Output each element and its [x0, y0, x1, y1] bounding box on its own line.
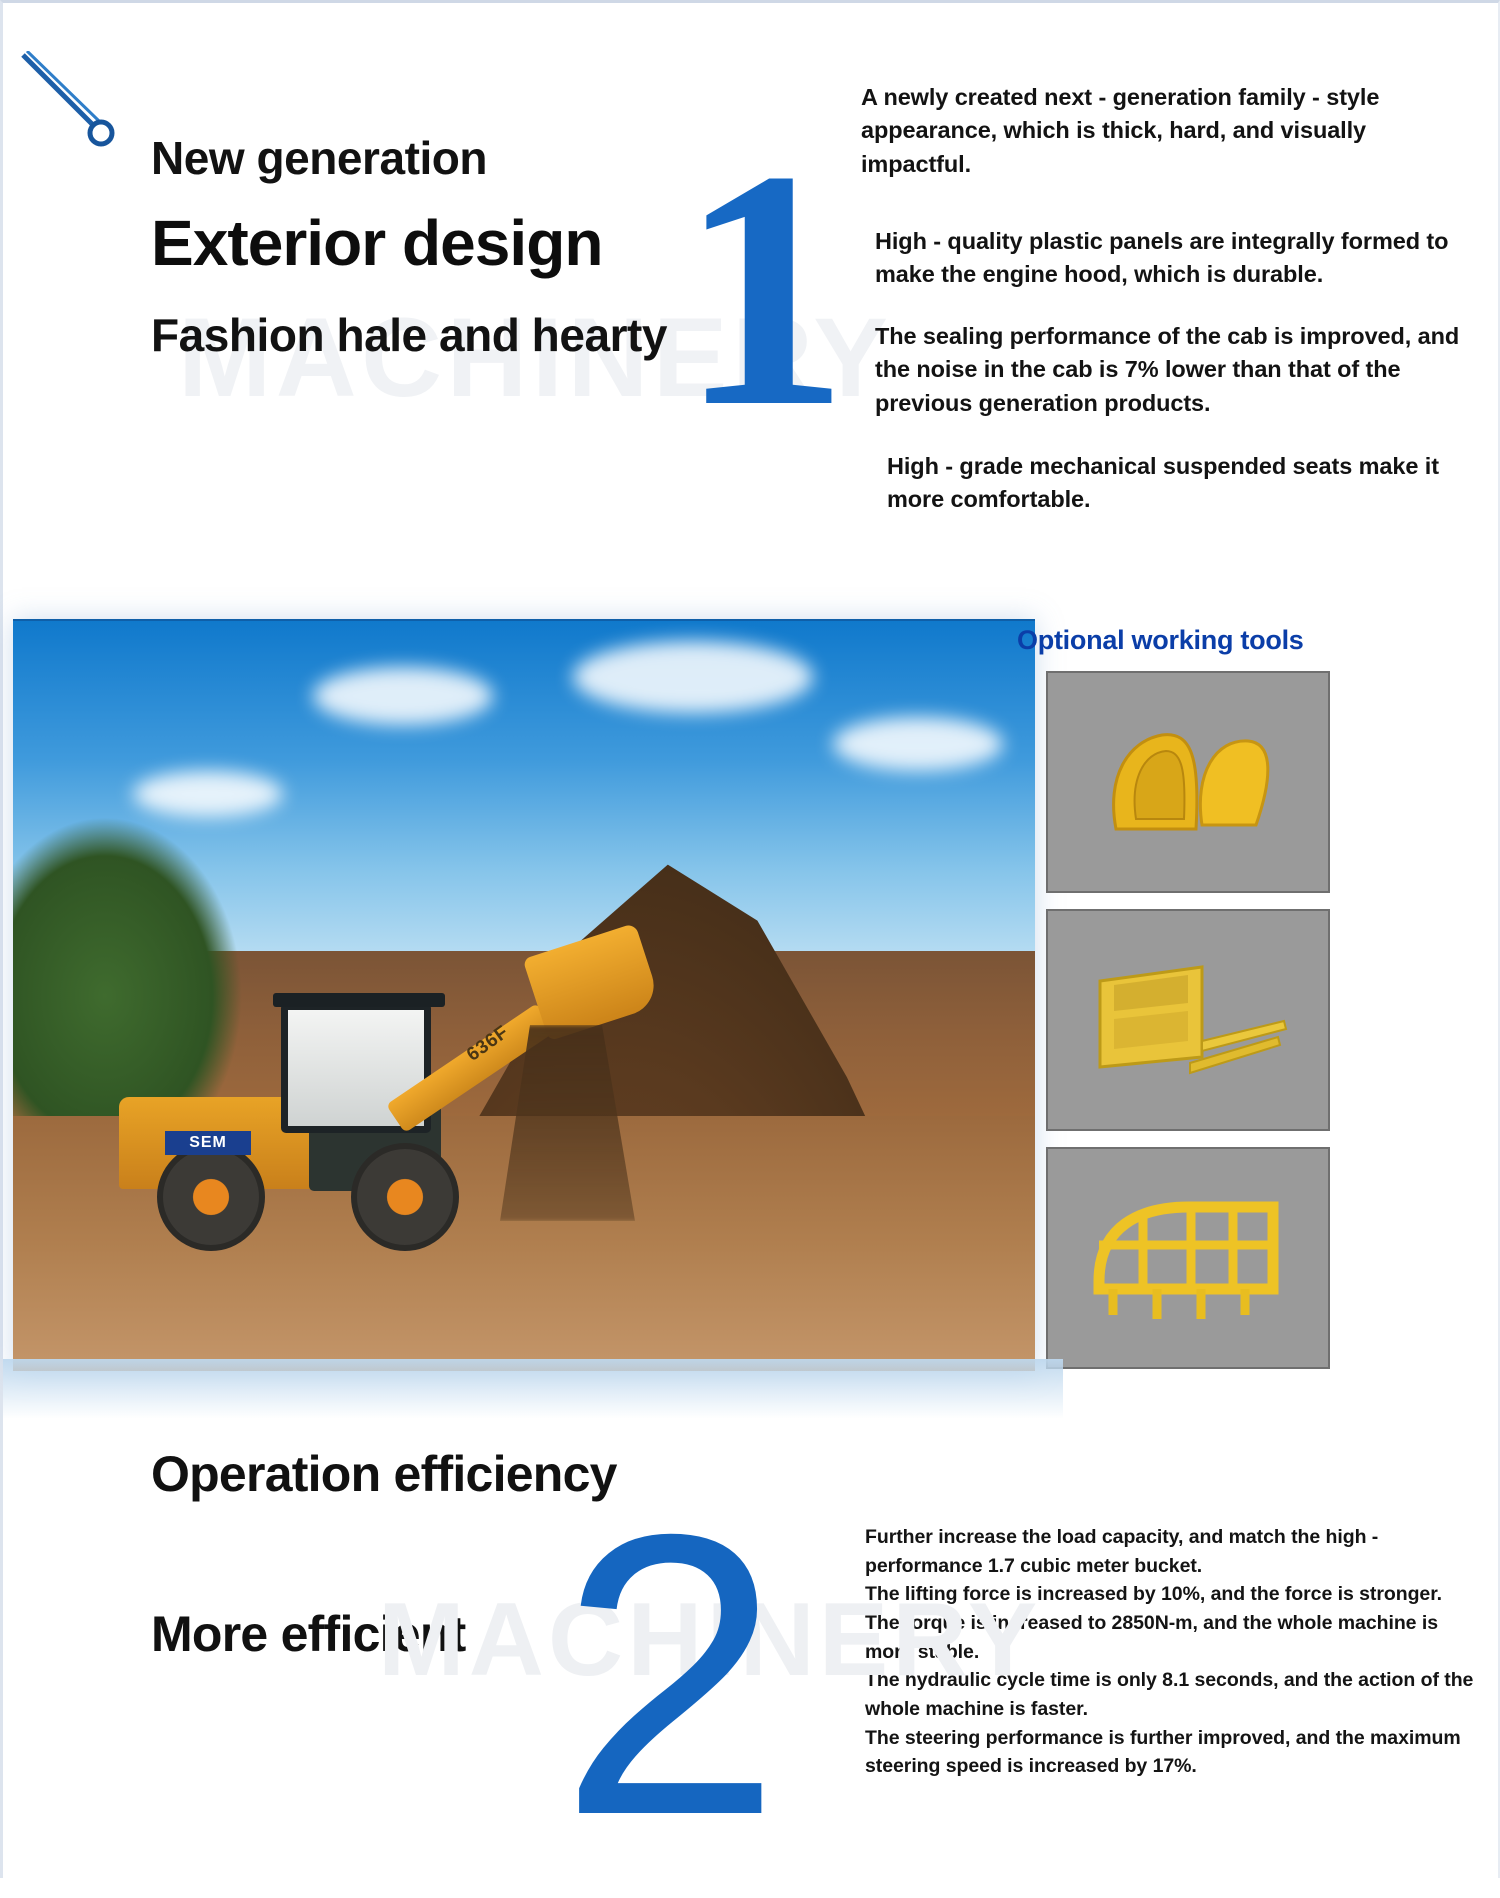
section1-bullet-3: The sealing performance of the cab is im…	[875, 320, 1475, 420]
section1-eyebrow: New generation	[151, 131, 771, 185]
section1-bullets: A newly created next - generation family…	[861, 81, 1475, 517]
tool-thumbnail-grapple[interactable]	[1046, 671, 1330, 893]
wheel-loader-machine: SEM 636F	[113, 951, 543, 1251]
section1-subtitle: Fashion hale and hearty	[151, 308, 771, 362]
pallet-fork-attachment-icon	[1078, 945, 1298, 1095]
cloud-shape	[833, 717, 1003, 771]
loader-wheel	[157, 1143, 265, 1251]
grapple-attachment-icon	[1088, 707, 1288, 857]
photo-band: SEM 636F Optional working tools	[3, 615, 1500, 1375]
optional-tools-title: Optional working tools	[1017, 625, 1304, 656]
section1-bullet-4: High - grade mechanical suspended seats …	[887, 450, 1475, 517]
section2-bullet-5: The steering performance is further impr…	[865, 1724, 1485, 1781]
section1-number: 1	[679, 143, 849, 435]
section1-bullet-2: High - quality plastic panels are integr…	[875, 225, 1475, 292]
cloud-shape	[133, 771, 283, 817]
loader-roof	[273, 993, 445, 1007]
section1-bullet-1: A newly created next - generation family…	[861, 81, 1475, 181]
section2-bullet-1: Further increase the load capacity, and …	[865, 1523, 1485, 1580]
section2-number: 2	[559, 1503, 781, 1847]
cloud-shape	[573, 641, 813, 713]
loader-brand-badge: SEM	[165, 1131, 251, 1155]
section1-title: Exterior design	[151, 205, 771, 282]
loader-wheel	[351, 1143, 459, 1251]
cloud-shape	[313, 667, 493, 725]
section1-headings: New generation Exterior design Fashion h…	[151, 131, 771, 362]
brochure-page: MACHINERY New generation Exterior design…	[0, 0, 1500, 1878]
section-exterior-design: New generation Exterior design Fashion h…	[3, 3, 1500, 603]
tool-thumbnail-rock-grid-bucket[interactable]	[1046, 1147, 1330, 1369]
rock-grid-bucket-attachment-icon	[1081, 1183, 1296, 1333]
loader-photo: SEM 636F	[13, 619, 1035, 1371]
tool-thumbnail-pallet-fork[interactable]	[1046, 909, 1330, 1131]
